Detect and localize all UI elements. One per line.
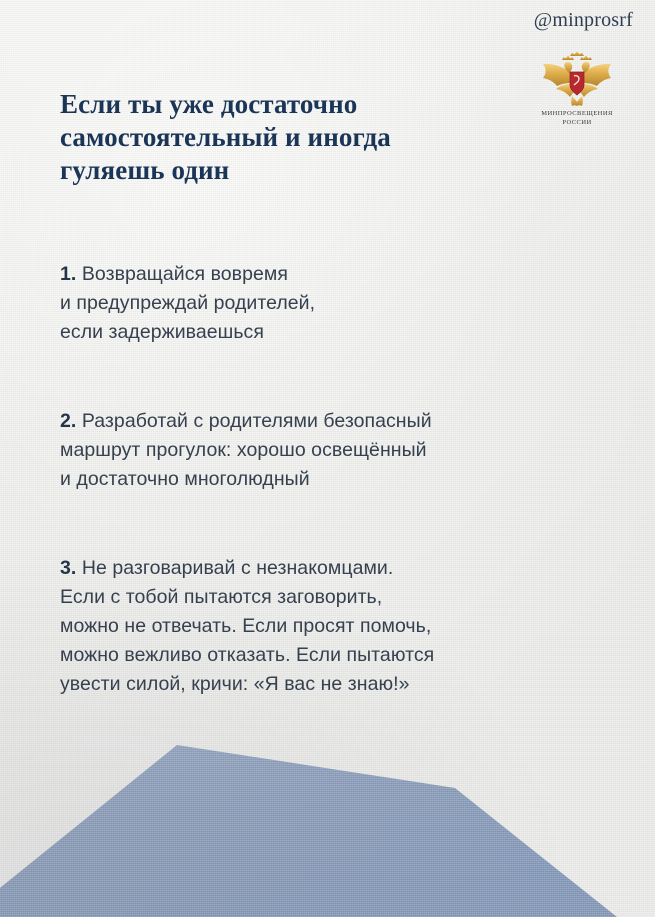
tip-number: 3. — [60, 557, 76, 579]
page-title: Если ты уже достаточно самостоятельный и… — [60, 88, 460, 187]
tip-item: 1. Возвращайся вовремя и предупреждай ро… — [60, 231, 580, 347]
content-area: Если ты уже достаточно самостоятельный и… — [60, 88, 580, 699]
blue-polygon — [0, 745, 617, 917]
account-handle: @minprosrf — [534, 9, 633, 32]
tip-number: 2. — [60, 410, 76, 432]
tip-text: Разработай с родителями безопасный маршр… — [60, 410, 432, 490]
tip-item: 3. Не разговаривай с незнакомцами. Если … — [60, 525, 580, 699]
infographic-card: @minprosrf — [0, 0, 655, 917]
tip-number: 1. — [60, 263, 76, 285]
tip-text: Возвращайся вовремя и предупреждай родит… — [60, 263, 315, 343]
angular-blue-panel — [0, 700, 655, 917]
tips-list: 1. Возвращайся вовремя и предупреждай ро… — [60, 231, 580, 699]
tip-item: 2. Разработай с родителями безопасный ма… — [60, 378, 580, 494]
tip-text: Не разговаривай с незнакомцами. Если с т… — [60, 557, 434, 695]
